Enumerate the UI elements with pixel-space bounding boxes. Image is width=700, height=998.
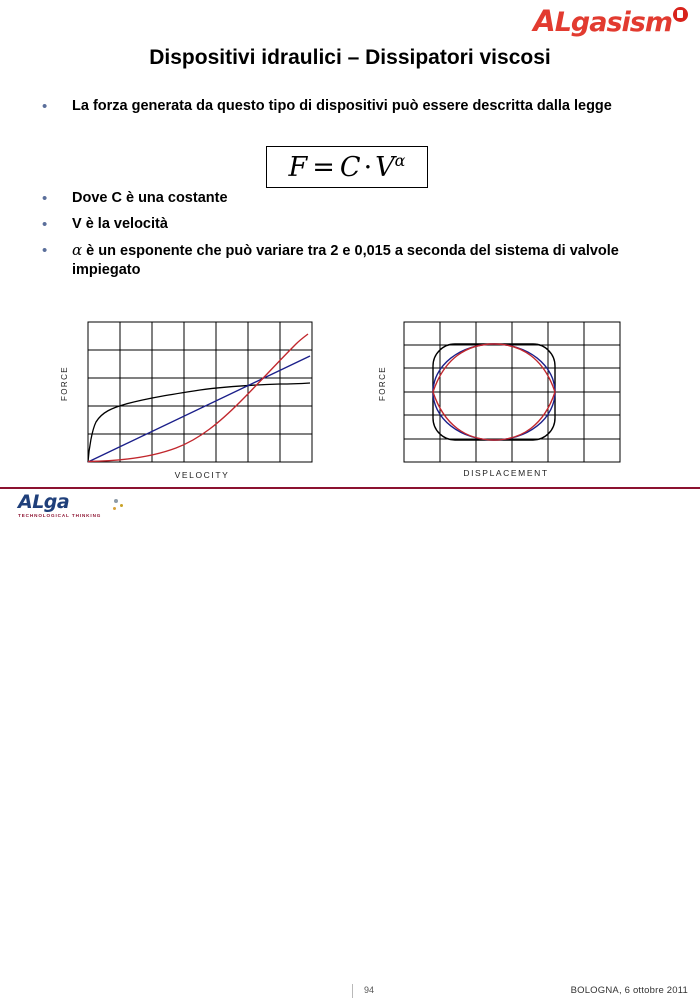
registered-badge-icon xyxy=(673,7,688,22)
algasism-wordmark-rest: Lgasism xyxy=(555,7,672,38)
chart-left-series-black xyxy=(88,383,310,462)
formula-box: F=C·Vα xyxy=(266,146,428,188)
list-item: • V è la velocità xyxy=(40,215,640,235)
bullet-text: è un esponente che può variare tra 2 e 0… xyxy=(72,243,619,278)
chart-left-xlabel: VELOCITY xyxy=(102,470,302,480)
corner-white-cut xyxy=(0,0,100,52)
footer-pipe-separator xyxy=(352,984,353,998)
formula-equals: = xyxy=(312,152,335,183)
formula-v: V xyxy=(375,152,395,183)
footer-place-date: BOLOGNA, 6 ottobre 2011 xyxy=(571,985,688,996)
alga-footer-tagline: TECHNOLOGICAL THINKING xyxy=(18,513,138,518)
corner-decoration xyxy=(0,0,118,52)
chart-right-plot-area xyxy=(400,318,630,468)
bullet-text: Dove C è una costante xyxy=(72,189,640,208)
chart-left-plot-area xyxy=(82,318,322,468)
chart-left-svg xyxy=(82,318,318,468)
algasism-wordmark: ALgasism xyxy=(533,6,672,38)
algasism-logo: ALgasism xyxy=(533,6,688,38)
alga-footer-logo: ALga TECHNOLOGICAL THINKING xyxy=(18,492,138,518)
chart-left-ylabel: FORCE xyxy=(60,366,69,401)
alga-footer-dots-icon xyxy=(110,499,130,513)
chart-right-svg xyxy=(400,318,626,468)
chart-right-xlabel: DISPLACEMENT xyxy=(416,468,596,478)
bullet-marker: • xyxy=(40,215,72,235)
page-number: 94 xyxy=(364,985,374,995)
footer: ALga TECHNOLOGICAL THINKING 94 BOLOGNA, … xyxy=(0,489,700,525)
formula-exponent: α xyxy=(395,151,406,170)
algasism-wordmark-a: A xyxy=(533,4,554,38)
list-item: • α è un esponente che può variare tra 2… xyxy=(40,241,640,280)
chart-left-series-red xyxy=(88,334,308,462)
chart-right-gridlines xyxy=(404,322,620,462)
chart-force-displacement: FORCE DISPLACEMENT xyxy=(380,318,630,488)
formula-expression: F=C·Vα xyxy=(289,151,406,183)
bullet-text: V è la velocità xyxy=(72,215,640,234)
bullet-marker: • xyxy=(40,97,72,117)
list-item: • La forza generata da questo tipo di di… xyxy=(40,97,640,117)
chart-left-series-blue xyxy=(88,356,310,462)
formula-dot: · xyxy=(364,152,373,183)
bullet-text-alpha: α è un esponente che può variare tra 2 e… xyxy=(72,241,640,280)
chart-right-ylabel: FORCE xyxy=(378,366,387,401)
corner-red-band xyxy=(0,0,118,52)
chart-force-velocity: FORCE VELOCITY xyxy=(62,318,322,488)
formula-lhs: F xyxy=(289,152,308,183)
page-title: Dispositivi idraulici – Dissipatori visc… xyxy=(0,46,700,70)
alpha-symbol: α xyxy=(72,241,82,259)
bullet-list: • La forza generata da questo tipo di di… xyxy=(40,97,640,283)
bullet-marker: • xyxy=(40,189,72,209)
bullet-text: La forza generata da questo tipo di disp… xyxy=(72,97,640,116)
bullet-marker: • xyxy=(40,241,72,261)
chart-left-gridlines xyxy=(88,322,312,462)
formula-c: C xyxy=(340,152,361,183)
list-item: • Dove C è una costante xyxy=(40,189,640,209)
